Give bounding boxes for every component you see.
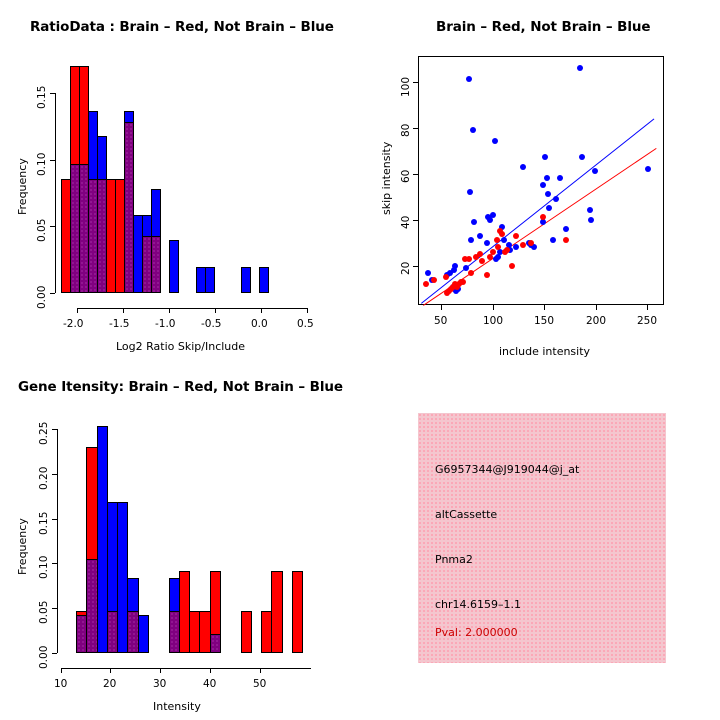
gene-hist-title: Gene Itensity: Brain – Red, Not Brain – … [18, 379, 343, 395]
gene-hist-xticklabel-20: 20 [103, 678, 116, 690]
info-background: G6957344@J919044@j_at altCassette Pnma2 … [418, 413, 666, 663]
ratio-hist-xticklabel-5: 0.5 [297, 318, 314, 330]
scatter-point-blue-10 [470, 127, 476, 133]
scatter-point-red-10 [466, 256, 472, 262]
scatter-point-red-0 [423, 281, 429, 287]
gene-hist-ytick-1 [52, 608, 57, 609]
ratio-hist-xticklabel-2: -1.0 [155, 318, 176, 330]
histogram-bar-overlap-10 [151, 236, 161, 293]
scatter-point-red-16 [490, 249, 496, 255]
ratio-hist-xtick-0 [77, 308, 78, 313]
scatter-point-red-11 [468, 270, 474, 276]
gene-hist-xtick-20 [110, 668, 111, 673]
histogram-bar-overlap-13 [210, 634, 221, 653]
scatter-point-blue-40 [588, 217, 594, 223]
gene-hist-yticklabel-4: 0.20 [38, 467, 50, 490]
info-locus: chr14.6159–1.1 [435, 598, 521, 611]
ratio-hist-xticklabel-1: -1.5 [109, 318, 130, 330]
scatter-fit-line-0 [421, 118, 654, 303]
ratio-hist-xticklabel-3: -0.5 [201, 318, 222, 330]
histogram-bar-red-19 [271, 571, 282, 653]
ratio-hist-yticklabel-0: 0.00 [36, 286, 48, 309]
gene-hist-xticklabel-50: 50 [253, 678, 266, 690]
gene-hist-x-axis [61, 668, 311, 669]
gene-hist-xticklabel-30: 30 [153, 678, 166, 690]
scatter-point-red-1 [431, 277, 437, 283]
histogram-bar-blue-22 [259, 267, 269, 293]
scatter-point-blue-32 [546, 205, 552, 211]
panel-ratio-histogram: RatioData : Brain – Red, Not Brain – Blu… [0, 0, 360, 360]
scatter-point-blue-13 [477, 233, 483, 239]
scatter-point-red-28 [454, 284, 460, 290]
ratio-hist-yticklabel-1: 0.05 [36, 219, 48, 242]
scatter-point-blue-39 [587, 207, 593, 213]
ratio-hist-xtick-1 [123, 308, 124, 313]
scatter-point-blue-30 [544, 175, 550, 181]
ratio-hist-y-axis [55, 93, 56, 293]
ratio-hist-xtick-3 [215, 308, 216, 313]
gene-hist-yticklabel-5: 0.25 [38, 422, 50, 445]
ratio-hist-title: RatioData : Brain – Red, Not Brain – Blu… [30, 19, 334, 35]
histogram-bar-red-21 [292, 571, 303, 653]
scatter-point-red-30 [479, 258, 485, 264]
scatter-point-blue-17 [492, 138, 498, 144]
gene-hist-xlabel: Intensity [153, 700, 201, 713]
scatter-point-blue-12 [471, 219, 477, 225]
info-pval: Pval: 2.000000 [435, 626, 518, 639]
gene-hist-xtick-50 [260, 668, 261, 673]
scatter-point-blue-42 [645, 166, 651, 172]
ratio-hist-yticklabel-3: 0.15 [36, 86, 48, 109]
scatter-point-red-26 [563, 237, 569, 243]
scatter-point-blue-34 [553, 196, 559, 202]
histogram-bar-blue-12 [169, 240, 179, 293]
scatter-point-blue-27 [540, 182, 546, 188]
gene-hist-ytick-3 [52, 519, 57, 520]
info-event-type: altCassette [435, 508, 497, 521]
gene-hist-y-axis [57, 429, 58, 653]
ratio-hist-x-axis [77, 308, 308, 309]
ratio-hist-ytick-0 [50, 293, 55, 294]
gene-hist-yticklabel-1: 0.05 [38, 601, 50, 624]
info-gene-symbol: Pnma2 [435, 553, 473, 566]
scatter-point-blue-24 [520, 164, 526, 170]
gene-hist-ytick-2 [52, 563, 57, 564]
gene-hist-xtick-40 [210, 668, 211, 673]
panel-gene-histogram: Gene Itensity: Brain – Red, Not Brain – … [0, 360, 360, 720]
scatter-point-blue-41 [592, 168, 598, 174]
scatter-point-red-27 [448, 286, 454, 292]
scatter-point-red-29 [460, 279, 466, 285]
scatter-point-red-17 [494, 237, 500, 243]
panel-scatter: Brain – Red, Not Brain – Blue skip inten… [360, 0, 720, 360]
scatter-point-blue-14 [484, 240, 490, 246]
scatter-point-blue-23 [513, 244, 519, 250]
scatter-point-red-23 [520, 242, 526, 248]
gene-hist-ytick-5 [52, 429, 57, 430]
histogram-bar-blue-16 [205, 267, 215, 293]
gene-hist-ytick-4 [52, 474, 57, 475]
scatter-point-red-19 [499, 231, 505, 237]
histogram-bar-red-16 [241, 611, 252, 653]
scatter-point-red-14 [484, 272, 490, 278]
ratio-hist-ytick-3 [50, 93, 55, 94]
scatter-point-blue-0 [425, 270, 431, 276]
gene-hist-yticklabel-2: 0.10 [38, 556, 50, 579]
ratio-hist-ytick-1 [50, 226, 55, 227]
gene-hist-yticklabel-0: 0.00 [38, 646, 50, 669]
ratio-hist-xtick-4 [261, 308, 262, 313]
scatter-point-blue-33 [550, 237, 556, 243]
scatter-point-blue-36 [563, 226, 569, 232]
scatter-point-blue-8 [466, 76, 472, 82]
scatter-point-blue-29 [542, 154, 548, 160]
info-probe-id: G6957344@J919044@j_at [435, 463, 579, 476]
panel-info: G6957344@J919044@j_at altCassette Pnma2 … [360, 360, 720, 720]
histogram-bar-blue-6 [138, 615, 149, 653]
ratio-hist-xtick-2 [169, 308, 170, 313]
scatter-point-blue-31 [545, 191, 551, 197]
gene-hist-yticklabel-3: 0.15 [38, 512, 50, 535]
scatter-point-blue-11 [468, 237, 474, 243]
gene-hist-xticklabel-40: 40 [203, 678, 216, 690]
r-multipanel-figure: RatioData : Brain – Red, Not Brain – Blu… [0, 0, 720, 720]
scatter-point-red-32 [504, 247, 510, 253]
scatter-point-blue-38 [579, 154, 585, 160]
scatter-point-blue-44 [452, 263, 458, 269]
scatter-point-red-22 [513, 233, 519, 239]
gene-hist-xticklabel-10: 10 [54, 678, 67, 690]
scatter-point-blue-35 [557, 175, 563, 181]
scatter-point-blue-9 [467, 189, 473, 195]
gene-hist-ytick-0 [52, 653, 57, 654]
gene-hist-xtick-30 [160, 668, 161, 673]
ratio-hist-xticklabel-4: 0.0 [251, 318, 268, 330]
scatter-point-red-2 [443, 274, 449, 280]
ratio-hist-xtick-5 [307, 308, 308, 313]
ratio-hist-yticklabel-2: 0.10 [36, 153, 48, 176]
scatter-point-red-21 [509, 263, 515, 269]
ratio-hist-ylabel: Frequency [16, 158, 29, 215]
ratio-hist-ytick-2 [50, 160, 55, 161]
gene-hist-xtick-10 [61, 668, 62, 673]
ratio-hist-xticklabel-0: -2.0 [63, 318, 84, 330]
scatter-points [360, 0, 720, 360]
ratio-hist-xlabel: Log2 Ratio Skip/Include [116, 340, 245, 353]
histogram-bar-blue-20 [241, 267, 251, 293]
scatter-point-red-24 [528, 240, 534, 246]
gene-hist-ylabel: Frequency [16, 518, 29, 575]
scatter-point-blue-37 [577, 65, 583, 71]
scatter-point-red-13 [477, 251, 483, 257]
scatter-point-blue-46 [490, 212, 496, 218]
